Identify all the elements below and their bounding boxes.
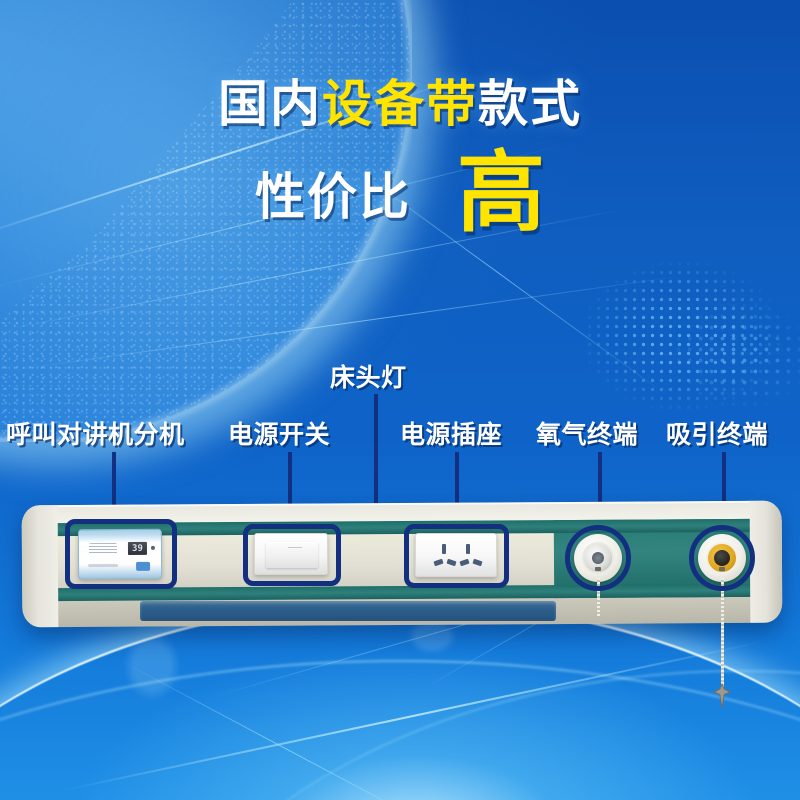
callout-box-power-switch [243, 524, 341, 586]
callout-box-power-outlet [404, 524, 509, 588]
callout-label-bed-lamp: 床头灯 [330, 358, 407, 394]
callout-label-intercom: 呼叫对讲机分机 [6, 415, 185, 451]
panel-end-cap-left [22, 505, 59, 627]
callout-circle-oxygen [565, 525, 631, 591]
callout-label-oxygen-terminal: 氧气终端 [536, 415, 638, 451]
pull-cord-hook-icon [711, 683, 733, 709]
callout-circle-suction [689, 525, 755, 591]
callout-labels: 呼叫对讲机分机 电源开关 床头灯 电源插座 氧气终端 吸引终端 [0, 0, 800, 800]
callout-label-power-switch: 电源开关 [228, 415, 330, 451]
suction-pull-cord [721, 578, 724, 688]
callout-label-power-outlet: 电源插座 [400, 415, 502, 451]
promo-banner: 国内设备带款式 性价比 高 呼叫对讲机分机 电源开关 床头灯 电源插座 氧气终端… [0, 0, 800, 800]
bed-lamp-diffuser [140, 601, 556, 621]
callout-label-suction-terminal: 吸引终端 [666, 415, 768, 451]
callout-box-intercom [65, 519, 177, 589]
